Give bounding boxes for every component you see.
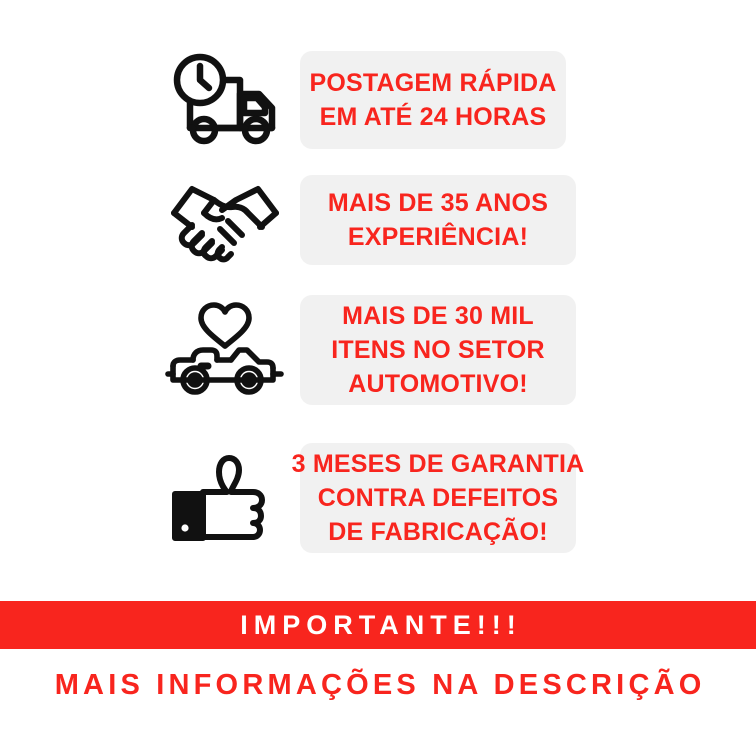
- benefit-row: MAIS DE 30 MIL ITENS NO SETOR AUTOMOTIVO…: [150, 292, 620, 408]
- description-footer-text: MAIS INFORMAÇÕES NA DESCRIÇÃO: [51, 669, 706, 702]
- benefit-pill: MAIS DE 30 MIL ITENS NO SETOR AUTOMOTIVO…: [300, 295, 576, 405]
- benefit-pill: 3 MESES DE GARANTIA CONTRA DEFEITOS DE F…: [300, 443, 576, 553]
- benefit-line: 3 MESES DE GARANTIA: [292, 447, 585, 481]
- benefit-pill: POSTAGEM RÁPIDA EM ATÉ 24 HORAS: [300, 51, 566, 149]
- benefit-line: MAIS DE 35 ANOS: [328, 186, 548, 220]
- delivery-truck-clock-icon: [150, 52, 300, 148]
- benefit-line: EM ATÉ 24 HORAS: [320, 100, 547, 134]
- benefit-line: POSTAGEM RÁPIDA: [310, 66, 557, 100]
- benefits-list: POSTAGEM RÁPIDA EM ATÉ 24 HORAS: [0, 0, 756, 590]
- benefit-line: ITENS NO SETOR: [331, 333, 544, 367]
- important-banner-text: IMPORTANTE!!!: [234, 610, 521, 641]
- benefit-pill: MAIS DE 35 ANOS EXPERIÊNCIA!: [300, 175, 576, 265]
- important-banner: IMPORTANTE!!!: [0, 601, 756, 649]
- promo-graphic: POSTAGEM RÁPIDA EM ATÉ 24 HORAS: [0, 0, 756, 756]
- benefit-line: CONTRA DEFEITOS: [318, 481, 559, 515]
- handshake-icon: [150, 177, 300, 263]
- thumbs-up-icon: [150, 448, 300, 548]
- car-heart-icon: [150, 300, 300, 400]
- benefit-line: MAIS DE 30 MIL: [342, 299, 534, 333]
- benefit-line: DE FABRICAÇÃO!: [328, 515, 547, 549]
- benefit-row: 3 MESES DE GARANTIA CONTRA DEFEITOS DE F…: [150, 440, 620, 556]
- benefit-row: MAIS DE 35 ANOS EXPERIÊNCIA!: [150, 172, 620, 268]
- description-footer: MAIS INFORMAÇÕES NA DESCRIÇÃO: [0, 655, 756, 715]
- benefit-line: EXPERIÊNCIA!: [348, 220, 528, 254]
- benefit-row: POSTAGEM RÁPIDA EM ATÉ 24 HORAS: [150, 42, 620, 158]
- benefit-line: AUTOMOTIVO!: [348, 367, 528, 401]
